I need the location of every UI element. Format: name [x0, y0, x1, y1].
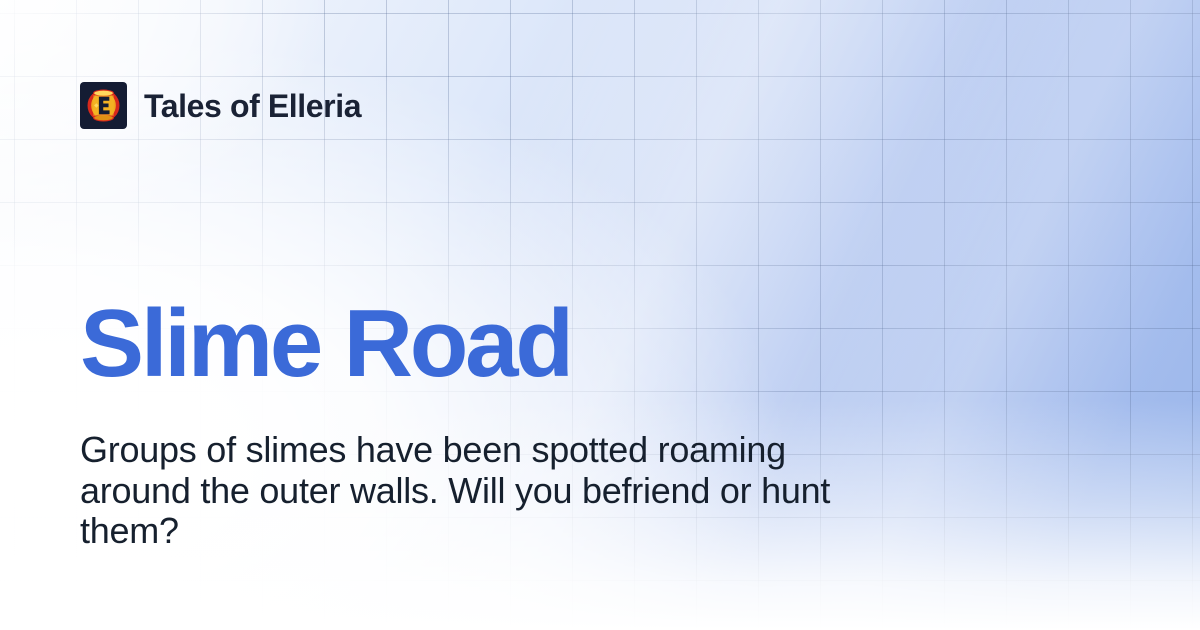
card-content: Tales of Elleria Slime Road Groups of sl… [0, 0, 1200, 630]
brand-name: Tales of Elleria [144, 90, 361, 122]
brand-lockup: Tales of Elleria [80, 82, 361, 129]
page-title: Slime Road [80, 296, 571, 392]
page-description: Groups of slimes have been spotted roami… [80, 430, 880, 552]
og-preview-card: Tales of Elleria Slime Road Groups of sl… [0, 0, 1200, 630]
elleria-coin-e-icon [80, 82, 127, 129]
